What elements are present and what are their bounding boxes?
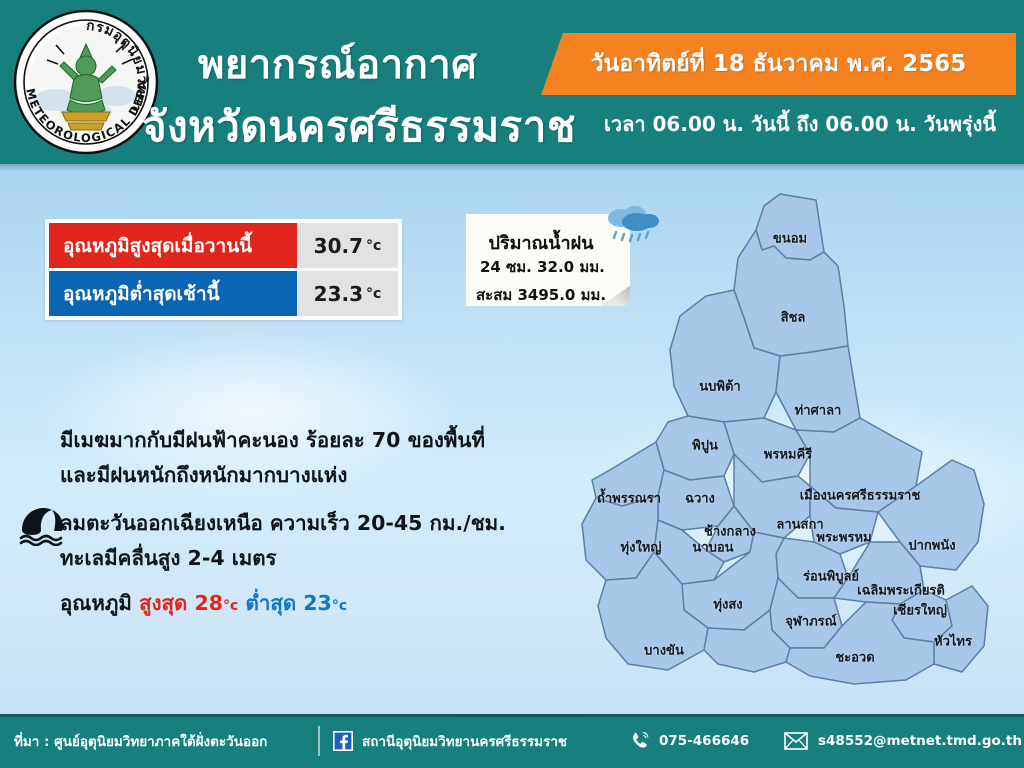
district-label: จุฬาภรณ์ [785, 611, 836, 632]
forecast-date: วันอาทิตย์ที่ 18 ธันวาคม พ.ศ. 2565 [591, 46, 967, 82]
district-label: เมืองนครศรีธรรมราช [800, 485, 921, 506]
forecast-temp-line: อุณหภูมิ สูงสุด 28°c ต่ำสุด 23°c [60, 587, 347, 620]
temp-min-degree: °c [332, 598, 347, 614]
district-label: พิปูน [692, 435, 718, 456]
district-label: พรหมคีรี [764, 444, 812, 465]
tmd-logo-icon: กรมอุตุนิยมวิทยา METEOROLOGICAL DEPARTME… [12, 8, 160, 156]
footer-source: ที่มา : ศูนย์อุตุนิยมวิทยาภาคใต้ฝั่งตะวั… [14, 730, 267, 752]
footer-top-rule [0, 714, 1024, 717]
page-footer: ที่มา : ศูนย์อุตุนิยมวิทยาภาคใต้ฝั่งตะวั… [0, 714, 1024, 768]
page-title: พยากรณ์อากาศ [198, 32, 477, 96]
page-header: กรมอุตุนิยมวิทยา METEOROLOGICAL DEPARTME… [0, 0, 1024, 164]
district-label: ทุ่งใหญ่ [621, 537, 662, 558]
district-label: นบพิต้า [699, 376, 740, 397]
footer-email[interactable]: s48552@metnet.tmd.go.th [818, 733, 1022, 749]
district-label: ขนอม [773, 228, 807, 249]
temp-max-degree: °c [223, 598, 238, 614]
date-banner: วันอาทิตย์ที่ 18 ธันวาคม พ.ศ. 2565 [541, 33, 1016, 95]
district-label: ท่าศาลา [795, 400, 842, 421]
max-temp-label: อุณหภูมิสูงสุดเมื่อวานนี้ [49, 223, 297, 268]
forecast-line-1: มีเมฆมากกับมีฝนฟ้าคะนอง ร้อยละ 70 ของพื้… [60, 424, 485, 457]
min-temp-number: 23.3 [314, 282, 363, 306]
province-map: ขนอมสิชลนบพิต้าท่าศาลาพิปูนพรหมคีรีถ้ำพร… [548, 186, 1018, 691]
header-shadow [0, 164, 1024, 171]
district-label: พระพรหม [816, 527, 871, 548]
district-label: นาบอน [692, 537, 733, 558]
forecast-wave-line: ทะเลมีคลื่นสูง 2-4 เมตร [60, 542, 277, 575]
footer-phone: 075-466646 [659, 733, 749, 749]
temp-max-label: สูงสุด [139, 591, 187, 615]
temp-min-value: 23 [303, 591, 332, 615]
footer-facebook-page[interactable]: สถานีอุตุนิยมวิทยานครศรีธรรมราช [362, 730, 567, 752]
district-label: ทุ่งสง [713, 594, 742, 615]
temp-min-label: ต่ำสุด [246, 591, 297, 615]
temp-prefix: อุณหภูมิ [60, 591, 132, 615]
min-temp-label: อุณหภูมิต่ำสุดเช้านี้ [49, 271, 297, 316]
district-label: ร่อนพิบูลย์ [803, 566, 859, 587]
max-temp-number: 30.7 [314, 234, 363, 258]
district-label: บางขัน [644, 640, 684, 661]
district-label: ถ้ำพรรณรา [597, 488, 661, 509]
min-temp-unit: °c [366, 286, 381, 302]
footer-divider [318, 726, 320, 756]
phone-icon [629, 730, 651, 752]
table-row: อุณหภูมิสูงสุดเมื่อวานนี้ 30.7 °c [49, 223, 398, 268]
district-label: หัวไทร [934, 631, 972, 652]
district-label: เชียรใหญ่ [893, 600, 947, 621]
district-label: ฉวาง [685, 488, 715, 509]
district-label: ปากพนัง [908, 535, 955, 556]
forecast-line-2: และมีฝนหนักถึงหนักมากบางแห่ง [60, 459, 347, 492]
table-row: อุณหภูมิต่ำสุดเช้านี้ 23.3 °c [49, 271, 398, 316]
district-label: สิชล [781, 307, 806, 328]
map-districts-svg [548, 186, 1018, 691]
facebook-icon[interactable] [333, 731, 353, 751]
min-temp-value: 23.3 °c [297, 271, 398, 316]
district-label: ชะอวด [835, 647, 874, 668]
district-label: เฉลิมพระเกียรติ [857, 580, 945, 601]
page-subtitle-province: จังหวัดนครศรีธรรมราช [142, 94, 576, 160]
forecast-period: เวลา 06.00 น. วันนี้ ถึง 06.00 น. วันพรุ… [604, 108, 996, 140]
forecast-wind-line: ลมตะวันออกเฉียงเหนือ ความเร็ว 20-45 กม./… [60, 507, 506, 540]
max-temp-unit: °c [366, 238, 381, 254]
temperature-table: อุณหภูมิสูงสุดเมื่อวานนี้ 30.7 °c อุณหภู… [45, 219, 402, 320]
temp-max-value: 28 [195, 591, 224, 615]
max-temp-value: 30.7 °c [297, 223, 398, 268]
email-icon[interactable] [784, 732, 808, 750]
